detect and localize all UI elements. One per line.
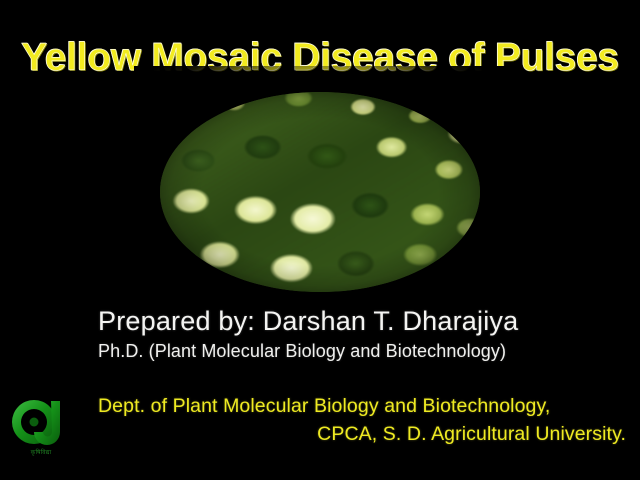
photo-oval — [160, 92, 480, 292]
logo-glyph-icon — [4, 392, 78, 470]
university-logo: कृषिविद्या — [4, 392, 78, 470]
photo-vignette — [160, 92, 480, 292]
department-line-2: CPCA, S. D. Agricultural University. — [60, 420, 626, 448]
qualification-line: Ph.D. (Plant Molecular Biology and Biote… — [98, 341, 598, 362]
prepared-by-line: Prepared by: Darshan T. Dharajiya — [98, 306, 598, 337]
presentation-slide: Yellow Mosaic Disease of Pulses Prepared… — [0, 0, 640, 480]
disease-photo — [160, 92, 480, 292]
prepared-by-block: Prepared by: Darshan T. Dharajiya Ph.D. … — [98, 306, 598, 362]
logo-script-text: कृषिविद्या — [4, 448, 78, 456]
page-title: Yellow Mosaic Disease of Pulses — [0, 38, 640, 79]
department-block: Dept. of Plant Molecular Biology and Bio… — [60, 392, 626, 449]
department-line-1: Dept. of Plant Molecular Biology and Bio… — [60, 392, 626, 420]
